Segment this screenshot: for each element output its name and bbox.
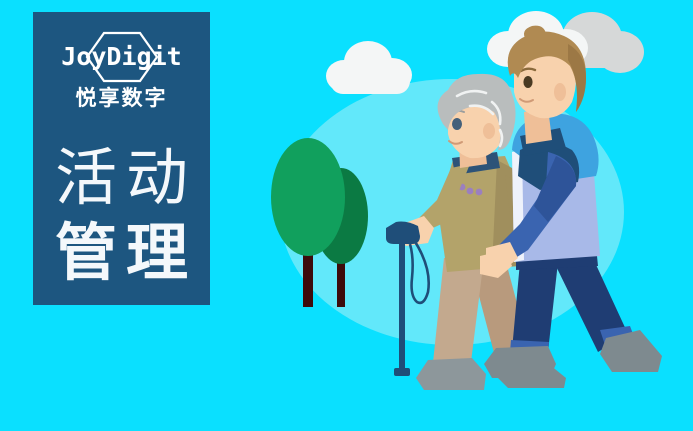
woman-eye — [452, 118, 462, 130]
woman-front-shoe — [416, 358, 486, 390]
tree-front-foliage — [271, 138, 345, 256]
man-eye — [523, 76, 532, 88]
woman-ear — [483, 123, 495, 139]
activity-management-banner: JoyDigit 悦享数字 活动 管理 — [0, 0, 693, 431]
man-back-shoe — [484, 346, 556, 378]
brand-wordmark: JoyDigit — [47, 34, 197, 80]
info-panel: JoyDigit 悦享数字 活动 管理 — [33, 12, 210, 305]
cane-tip — [394, 368, 410, 376]
page-title-line-2: 管理 — [33, 216, 210, 290]
man-ear — [554, 83, 566, 101]
page-title: 活动 管理 — [33, 140, 210, 290]
brand-logo: JoyDigit — [47, 34, 197, 80]
cane-shaft — [399, 232, 405, 372]
brand-chinese-name: 悦享数字 — [33, 85, 210, 111]
page-title-line-1: 活动 — [33, 140, 210, 216]
brand-block: JoyDigit 悦享数字 — [33, 34, 210, 126]
